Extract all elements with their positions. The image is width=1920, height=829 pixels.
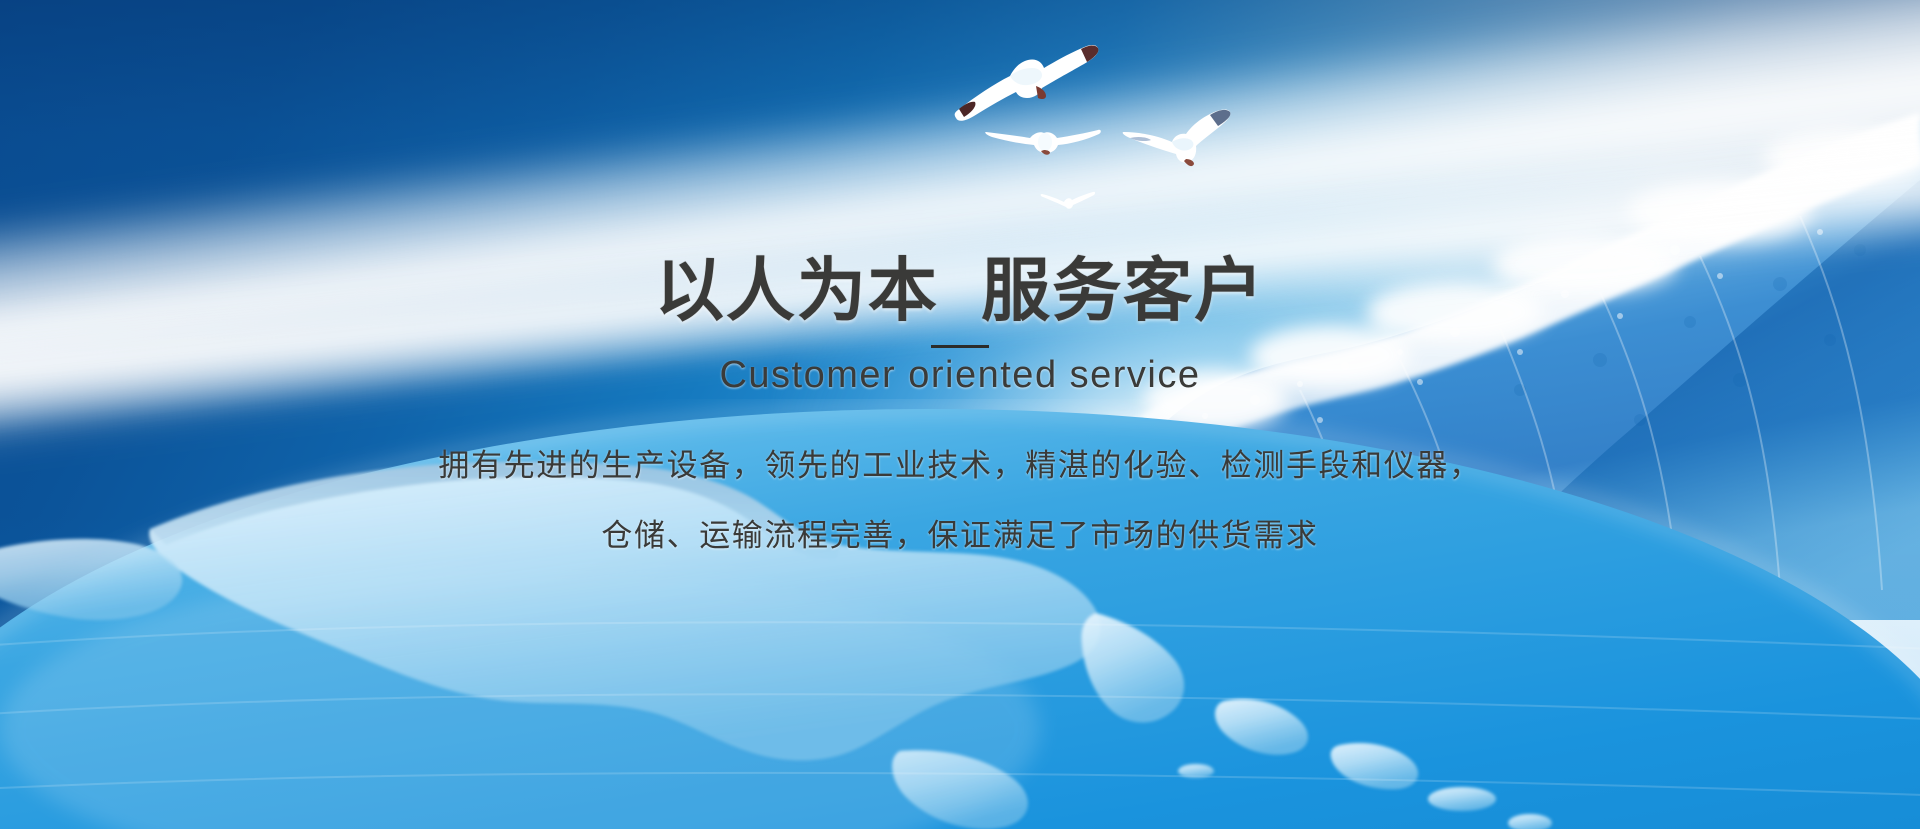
banner-hero: 以人为本 服务客户 Customer oriented service 拥有先进… <box>0 0 1920 829</box>
seagull-icon-medium-right <box>1118 108 1248 180</box>
body-text-line-1: 拥有先进的生产设备，领先的工业技术，精湛的化验、检测手段和仪器， <box>0 446 1920 486</box>
seagull-icon-large <box>950 38 1100 128</box>
title-divider <box>931 345 989 348</box>
seagull-icon-small <box>1040 188 1096 214</box>
subtitle-english: Customer oriented service <box>0 352 1920 398</box>
body-text-line-2: 仓储、运输流程完善，保证满足了市场的供货需求 <box>0 516 1920 556</box>
page-title: 以人为本 服务客户 <box>0 250 1920 332</box>
seagull-group <box>940 30 1280 230</box>
seagull-icon-medium-left <box>982 120 1102 162</box>
